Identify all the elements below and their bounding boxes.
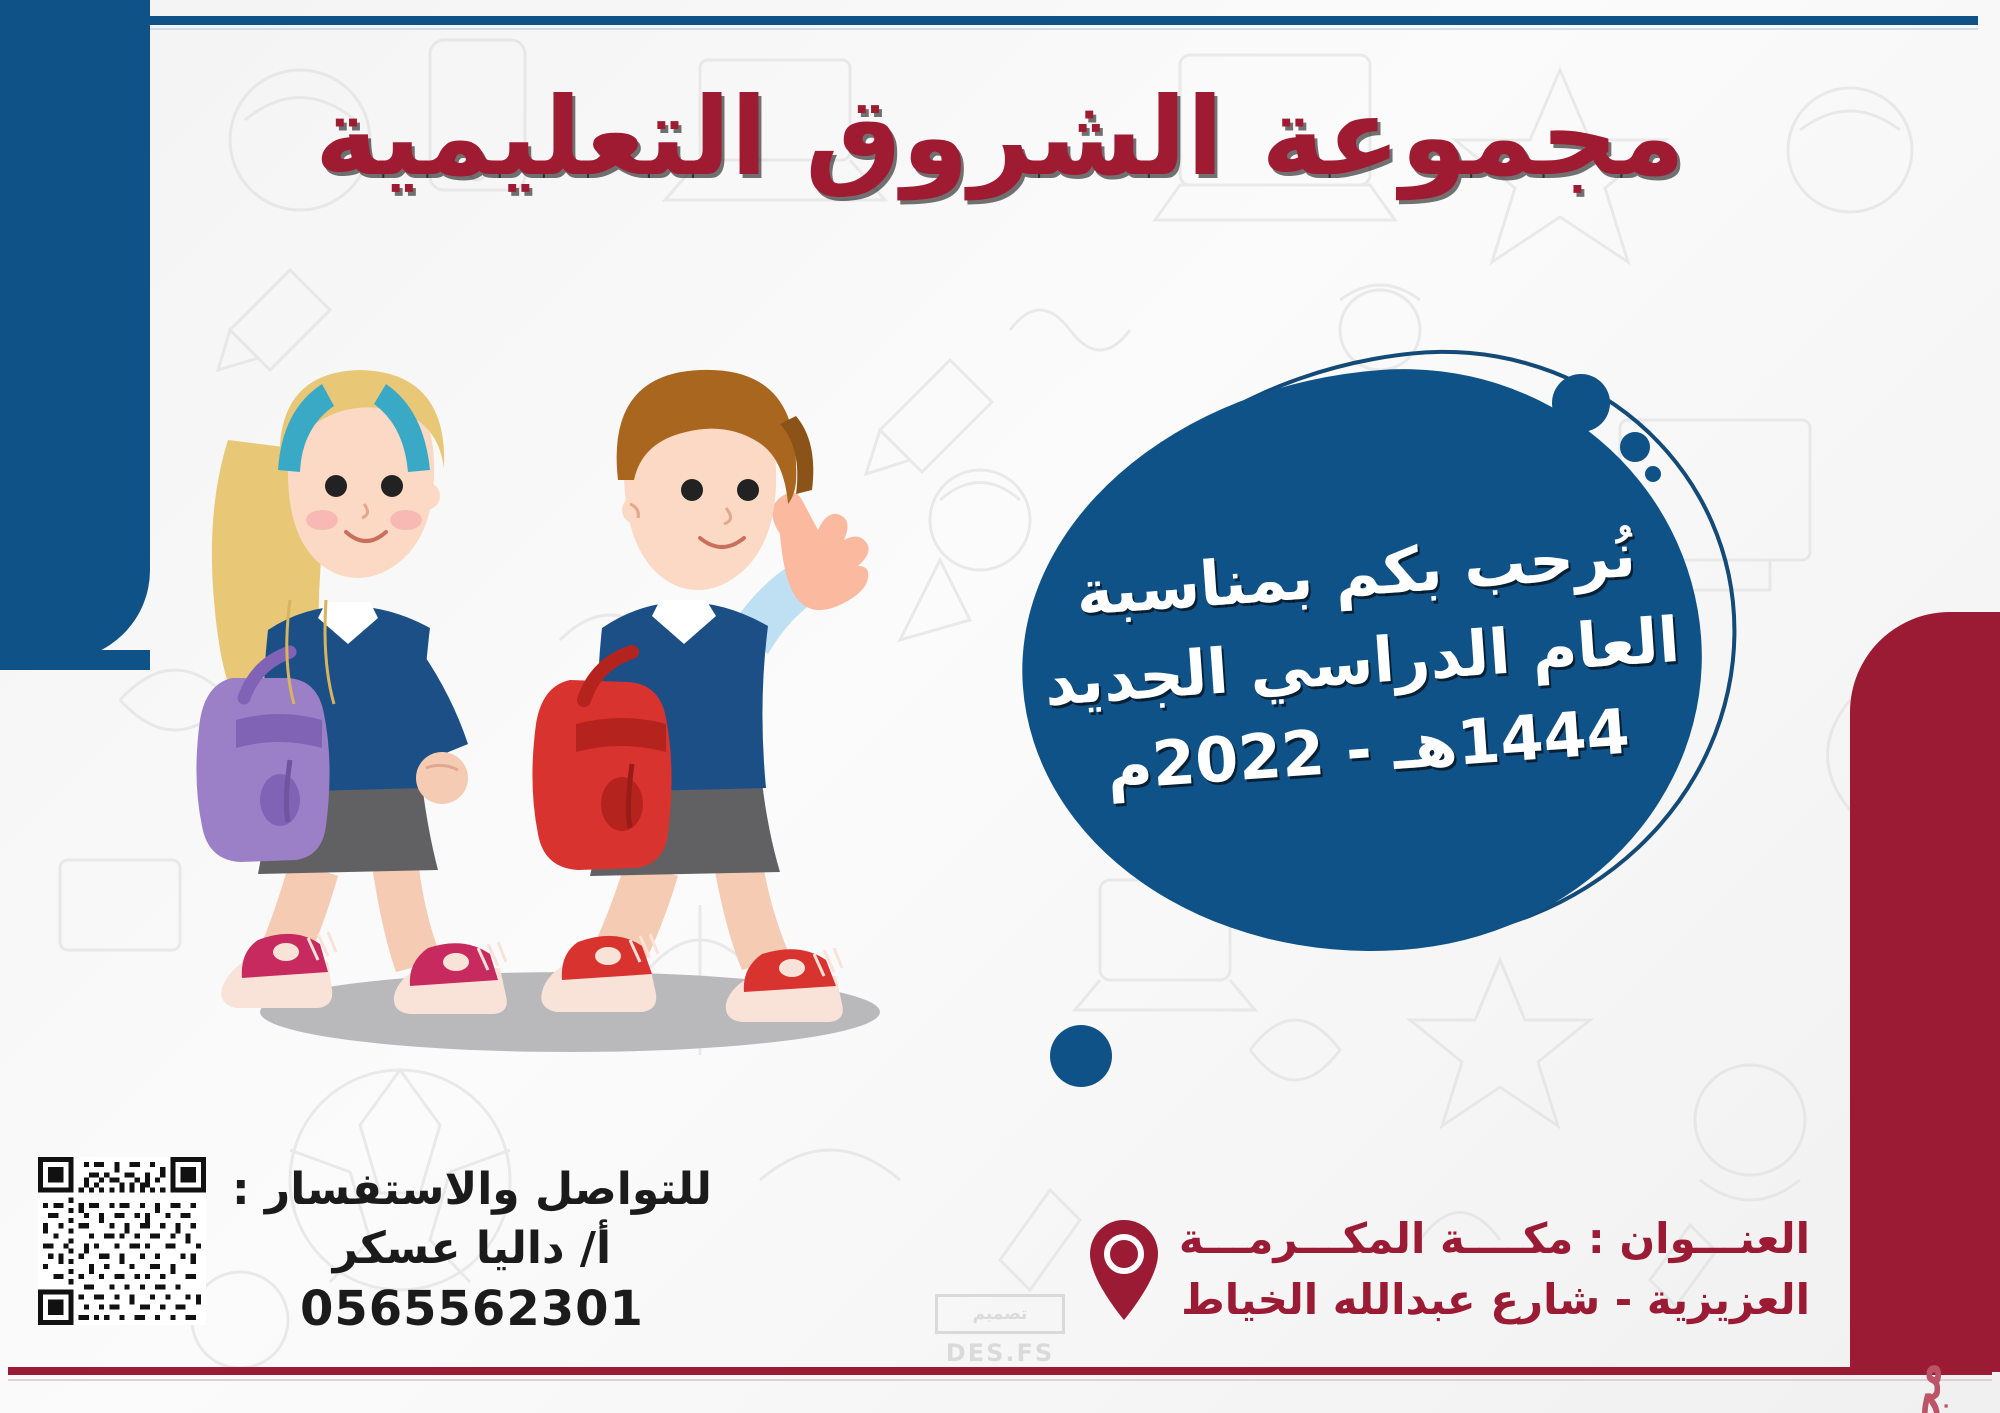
page-title: مجموعة الشروق التعليمية bbox=[200, 78, 1800, 199]
contact-text: للتواصل والاستفسار : أ/ داليا عسكر 05655… bbox=[232, 1157, 712, 1341]
students-illustration bbox=[140, 300, 960, 1100]
decorative-dot-bottom bbox=[1050, 1025, 1112, 1087]
watermark-mark: تصميم bbox=[935, 1294, 1065, 1334]
designer-watermark: تصميم DES.FS bbox=[935, 1294, 1065, 1367]
sidebar-band-left: مجموعة الشروق التعليمية bbox=[0, 0, 150, 660]
contact-person: أ/ داليا عسكر bbox=[232, 1220, 712, 1278]
contact-label: للتواصل والاستفسار : bbox=[232, 1161, 712, 1219]
qr-code-icon[interactable] bbox=[38, 1157, 206, 1325]
sidebar-band-left-extension bbox=[0, 650, 150, 670]
map-pin-icon bbox=[1087, 1218, 1161, 1322]
decorative-dot-large bbox=[1552, 374, 1610, 432]
sidebar-right-vertical-text: مجموعة الشروق التعليمية bbox=[1850, 1332, 2000, 1413]
address-line-2: العزيزية - شارع عبدالله الخياط bbox=[1179, 1270, 1810, 1331]
poster-canvas: مجموعة الشروق التعليمية مجموعة الشروق ال… bbox=[0, 0, 2000, 1413]
frame-line-bottom-thin bbox=[8, 1379, 1992, 1381]
address-block: العنـــوان : مكــــة المكـــرمـــة العزي… bbox=[1087, 1209, 1810, 1331]
decorative-dot-medium bbox=[1620, 432, 1650, 462]
decorative-dot-small bbox=[1645, 466, 1661, 482]
contact-block: للتواصل والاستفسار : أ/ داليا عسكر 05655… bbox=[38, 1157, 712, 1341]
frame-line-top bbox=[148, 16, 1978, 25]
frame-line-top-thin bbox=[148, 28, 1978, 30]
frame-line-bottom bbox=[8, 1367, 1992, 1375]
address-line-1: العنـــوان : مكــــة المكـــرمـــة bbox=[1179, 1209, 1810, 1270]
contact-phone[interactable]: 0565562301 bbox=[232, 1278, 712, 1341]
address-text: العنـــوان : مكــــة المكـــرمـــة العزي… bbox=[1179, 1209, 1810, 1331]
welcome-message: نُرحب بكم بمناسبة العام الدراسي الجديد 1… bbox=[1003, 349, 1722, 975]
sidebar-band-right: مجموعة الشروق التعليمية bbox=[1850, 612, 2000, 1372]
watermark-label: DES.FS bbox=[935, 1339, 1065, 1367]
